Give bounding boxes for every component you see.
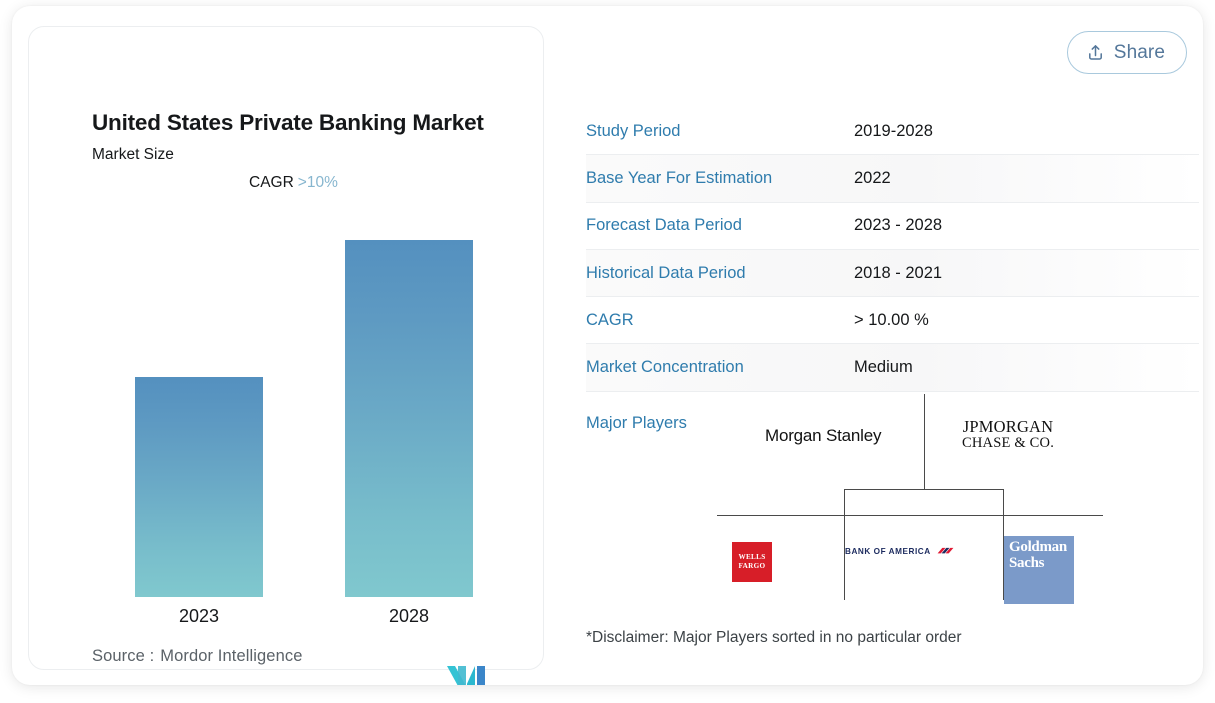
spec-value: Medium bbox=[854, 358, 913, 377]
table-row: Base Year For Estimation 2022 bbox=[586, 155, 1199, 202]
spec-value: > 10.00 % bbox=[854, 311, 929, 330]
logo-goldman-sachs-text: Goldman Sachs bbox=[1009, 540, 1067, 571]
bar-label-2028: 2028 bbox=[345, 606, 473, 627]
major-players-diagram: Morgan Stanley JPMORGAN CHASE & CO. WELL… bbox=[710, 388, 1110, 620]
logo-jpmorgan-line2: CHASE & CO. bbox=[962, 435, 1054, 452]
spec-key: Base Year For Estimation bbox=[586, 169, 854, 188]
connector-box-left bbox=[844, 489, 845, 600]
logo-bank-of-america: BANK OF AMERICA bbox=[845, 546, 955, 556]
bank-of-america-flag-icon bbox=[936, 546, 955, 556]
upload-icon bbox=[1086, 43, 1105, 62]
bar-rect-2028[interactable] bbox=[345, 240, 473, 597]
logo-bank-of-america-text: BANK OF AMERICA bbox=[845, 547, 931, 556]
bar-label-2023: 2023 bbox=[135, 606, 263, 627]
mordor-intelligence-logo bbox=[447, 663, 489, 685]
logo-goldman-sachs: Goldman Sachs bbox=[1004, 536, 1074, 604]
table-row: Forecast Data Period 2023 - 2028 bbox=[586, 203, 1199, 250]
market-size-chart-card: United States Private Banking Market Mar… bbox=[28, 26, 544, 670]
major-players-label: Major Players bbox=[586, 414, 687, 433]
logo-goldman-sachs-line2: Sachs bbox=[1009, 555, 1044, 571]
spec-value: 2022 bbox=[854, 169, 891, 188]
share-button[interactable]: Share bbox=[1067, 31, 1187, 74]
bar-group-2023: 2023 bbox=[135, 27, 263, 669]
report-snapshot-container: United States Private Banking Market Mar… bbox=[12, 6, 1203, 685]
spec-value: 2023 - 2028 bbox=[854, 216, 942, 235]
connector-vertical-center-top bbox=[924, 394, 925, 490]
bar-group-2028: 2028 bbox=[345, 27, 473, 669]
logo-wells-fargo-line1: WELLS bbox=[738, 553, 765, 561]
table-row: Historical Data Period 2018 - 2021 bbox=[586, 250, 1199, 297]
connector-horizontal-main bbox=[717, 515, 1103, 516]
logo-wells-fargo-line2: FARGO bbox=[739, 562, 766, 570]
spec-value: 2018 - 2021 bbox=[854, 264, 942, 283]
share-button-label: Share bbox=[1114, 42, 1165, 64]
spec-key: Forecast Data Period bbox=[586, 216, 854, 235]
table-row: Market Concentration Medium bbox=[586, 344, 1199, 391]
spec-key: CAGR bbox=[586, 311, 854, 330]
report-spec-table: Study Period 2019-2028 Base Year For Est… bbox=[586, 108, 1199, 392]
source-attribution: Source : Mordor Intelligence bbox=[92, 647, 302, 666]
logo-jpmorgan-line1: JPMORGAN bbox=[962, 418, 1054, 435]
source-name: Mordor Intelligence bbox=[160, 647, 302, 666]
table-row: CAGR > 10.00 % bbox=[586, 297, 1199, 344]
spec-key: Study Period bbox=[586, 122, 854, 141]
report-detail-panel: Share Study Period 2019-2028 Base Year F… bbox=[560, 6, 1203, 685]
bar-rect-2023[interactable] bbox=[135, 377, 263, 597]
connector-box-top bbox=[844, 489, 1004, 490]
source-label: Source : bbox=[92, 647, 154, 666]
spec-key: Historical Data Period bbox=[586, 264, 854, 283]
logo-jpmorgan-chase: JPMORGAN CHASE & CO. bbox=[962, 418, 1054, 452]
logo-wells-fargo: WELLS FARGO bbox=[732, 542, 772, 582]
logo-morgan-stanley: Morgan Stanley bbox=[765, 426, 881, 446]
logo-goldman-sachs-line1: Goldman bbox=[1009, 539, 1067, 555]
logo-wells-fargo-text: WELLS FARGO bbox=[738, 553, 765, 571]
spec-value: 2019-2028 bbox=[854, 122, 933, 141]
spec-key: Market Concentration bbox=[586, 358, 854, 377]
table-row: Study Period 2019-2028 bbox=[586, 108, 1199, 155]
disclaimer-text: *Disclaimer: Major Players sorted in no … bbox=[586, 629, 962, 647]
bar-chart-plot-area: 2023 2028 bbox=[29, 27, 543, 669]
